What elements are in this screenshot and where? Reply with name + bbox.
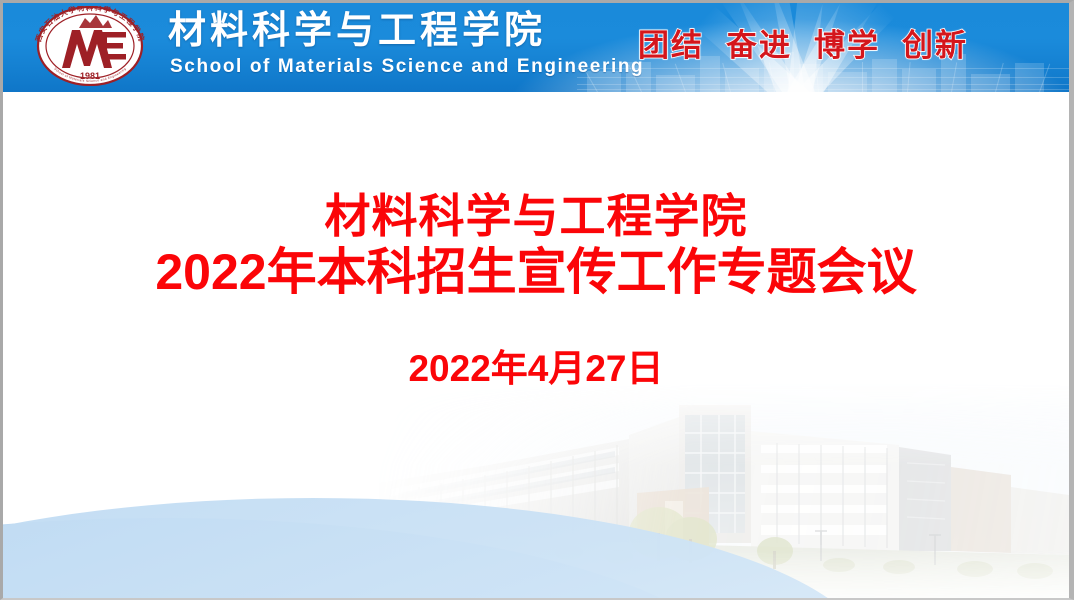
presentation-slide: 西安石油大学材料科学与工程学院 School of Materials Scie… bbox=[0, 0, 1074, 600]
header-school-name-cn: 材料科学与工程学院 bbox=[168, 9, 546, 53]
slide-body: 材料科学与工程学院 2022年本科招生宣传工作专题会议 2022年4月27日 1 bbox=[3, 92, 1069, 598]
motto-word-4: 创新 bbox=[902, 28, 968, 64]
motto-word-3: 博学 bbox=[814, 28, 880, 64]
slide-title-block: 材料科学与工程学院 2022年本科招生宣传工作专题会议 2022年4月27日 bbox=[3, 92, 1069, 598]
emblem-year: 1981 bbox=[80, 71, 100, 81]
header-school-name-en: School of Materials Science and Engineer… bbox=[170, 55, 644, 79]
perspective-grid-decoration bbox=[577, 62, 1069, 92]
title-line-1: 材料科学与工程学院 bbox=[3, 190, 1069, 242]
slide-header-banner: 西安石油大学材料科学与工程学院 School of Materials Scie… bbox=[0, 0, 1069, 92]
school-emblem-logo: 西安石油大学材料科学与工程学院 School of Materials Scie… bbox=[24, 6, 157, 86]
title-line-2: 2022年本科招生宣传工作专题会议 bbox=[3, 244, 1069, 300]
header-motto: 团结奋进博学创新 bbox=[638, 26, 968, 66]
motto-word-2: 奋进 bbox=[726, 28, 792, 64]
slide-date: 2022年4月27日 bbox=[3, 347, 1069, 391]
motto-word-1: 团结 bbox=[638, 28, 704, 64]
